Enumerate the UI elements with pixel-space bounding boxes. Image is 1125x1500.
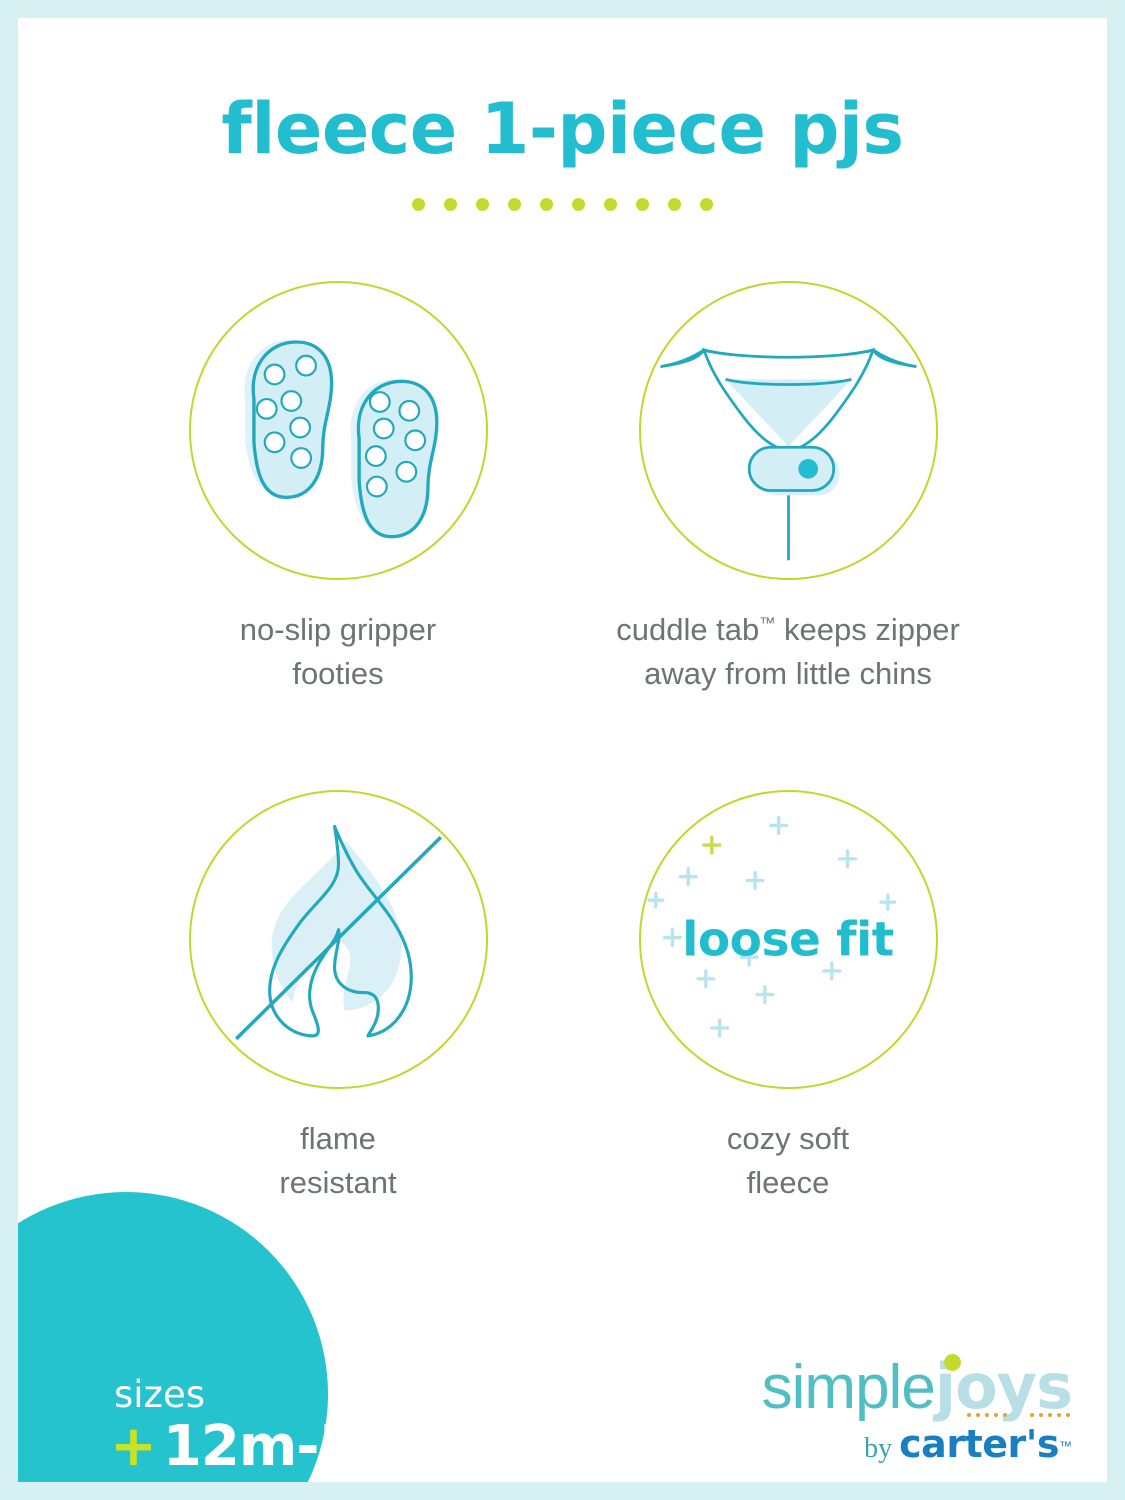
- gripper-footies-icon: [191, 283, 486, 578]
- logo-trademark-icon: ™: [1059, 1439, 1072, 1454]
- dash-dot: [1048, 1413, 1052, 1417]
- poster-canvas: fleece 1-piece pjs: [18, 18, 1107, 1482]
- rule-dot: [700, 198, 713, 211]
- rule-dot: [668, 198, 681, 211]
- feature-gripper-footies: no-slip gripper footies: [108, 281, 568, 696]
- rule-dot: [412, 198, 425, 211]
- rule-dot: [476, 198, 489, 211]
- cuddle-tab-collar-icon: [641, 283, 936, 578]
- dash-dot: [1030, 1413, 1034, 1417]
- feature-flame-resistant: flame resistant: [108, 790, 568, 1205]
- dash-group: [967, 1413, 1007, 1417]
- loose-fit-label: loose fit: [641, 912, 936, 967]
- logo-by-word: by: [864, 1433, 899, 1464]
- feature-icon-ring: loose fit: [639, 790, 938, 1089]
- logo-byline: by carter's™: [752, 1425, 1072, 1463]
- logo-brand-carters: carter's: [899, 1422, 1059, 1466]
- collar-v-fill: [725, 379, 851, 446]
- logo-word-simple: simple: [762, 1353, 935, 1422]
- dash-dot: [1057, 1413, 1061, 1417]
- poster-root: fleece 1-piece pjs: [0, 0, 1125, 1500]
- dash-dot: [1039, 1413, 1043, 1417]
- sparkle-plus-olive: [703, 837, 719, 853]
- brand-logo: simplejoys by carter's™: [752, 1356, 1072, 1463]
- flame-resistant-icon: [191, 792, 486, 1087]
- dash-dot: [976, 1413, 980, 1417]
- feature-caption: no-slip gripper footies: [108, 608, 568, 696]
- feature-caption: cozy soft fleece: [558, 1117, 1018, 1205]
- sizes-range-value: 12m-5t: [163, 1419, 382, 1475]
- feature-cozy-soft-fleece: loose fit cozy soft fleece: [558, 790, 1018, 1205]
- page-title: fleece 1-piece pjs: [18, 88, 1107, 170]
- feature-cuddle-tab: cuddle tab™ keeps zipper away from littl…: [558, 281, 1018, 696]
- dash-dot: [967, 1413, 971, 1417]
- dash-group: [1030, 1413, 1070, 1417]
- rule-dot: [572, 198, 585, 211]
- rule-dot: [604, 198, 617, 211]
- dash-dot: [994, 1413, 998, 1417]
- logo-joys-wrap: joys: [935, 1356, 1072, 1418]
- sizes-range-row: + 12m-5t: [110, 1419, 440, 1475]
- sizes-badge-text: sizes + 12m-5t: [110, 1376, 440, 1475]
- logo-wordmark: simplejoys: [752, 1356, 1072, 1419]
- dash-dot: [1066, 1413, 1070, 1417]
- trademark-mark: ™: [759, 615, 775, 633]
- decorative-dot-rule: [18, 198, 1107, 211]
- sizes-label: sizes: [114, 1376, 440, 1413]
- feature-icon-ring: [189, 790, 488, 1089]
- left-footie-shape: [253, 342, 331, 497]
- logo-green-dot-icon: [944, 1354, 961, 1371]
- rule-dot: [636, 198, 649, 211]
- dash-dot: [985, 1413, 989, 1417]
- plus-icon: +: [110, 1419, 157, 1475]
- rule-dot: [540, 198, 553, 211]
- feature-icon-ring: [189, 281, 488, 580]
- feature-caption: cuddle tab™ keeps zipper away from littl…: [558, 608, 1018, 696]
- feature-icon-ring: [639, 281, 938, 580]
- cuddle-tab-shape: [749, 447, 834, 490]
- feature-caption: flame resistant: [108, 1117, 568, 1205]
- rule-dot: [508, 198, 521, 211]
- dash-dot: [1003, 1413, 1007, 1417]
- rule-dot: [444, 198, 457, 211]
- logo-dash-accent: [967, 1413, 1070, 1417]
- zipper-pull-dot: [798, 459, 818, 479]
